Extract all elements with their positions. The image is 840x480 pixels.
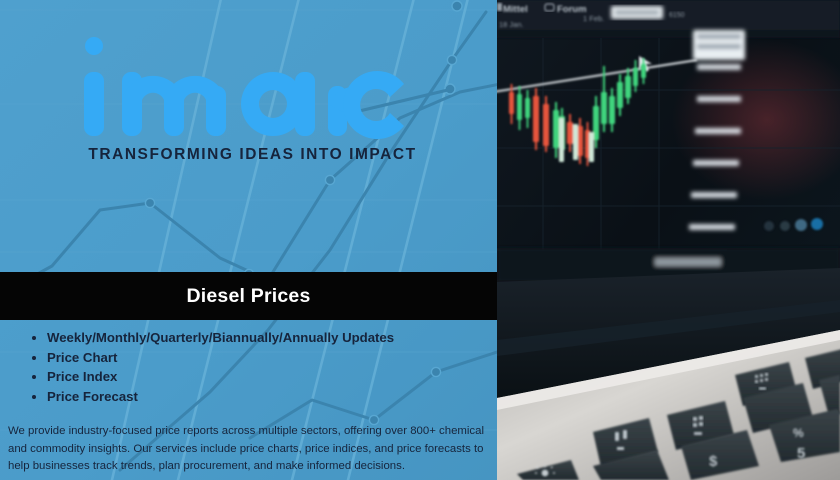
left-info-panel: TRANSFORMING IDEAS INTO IMPACT Diesel Pr… — [0, 0, 497, 480]
key-label-dollar: $ — [709, 453, 718, 470]
page-title: Diesel Prices — [186, 285, 310, 308]
imarc-wordmark-icon — [70, 34, 410, 144]
feature-label: Price Forecast — [47, 389, 138, 404]
feature-list: Weekly/Monthly/Quarterly/Biannually/Annu… — [0, 328, 497, 406]
list-item: Price Forecast — [30, 387, 497, 407]
photo-illustration: Mittel Forum 18 Jan. 1 Feb. 6150 — [497, 0, 840, 480]
feature-label: Price Index — [47, 369, 117, 384]
feature-label: Price Chart — [47, 350, 117, 365]
list-item: Weekly/Monthly/Quarterly/Biannually/Annu… — [30, 328, 497, 348]
brand-tagline: TRANSFORMING IDEAS INTO IMPACT — [0, 146, 497, 164]
key-label-5: 5 — [797, 445, 805, 462]
brand-logo-block: TRANSFORMING IDEAS INTO IMPACT — [0, 0, 497, 272]
screen-bottom-label — [655, 258, 721, 266]
screen-label-date-left: 18 Jan. — [499, 20, 524, 29]
description-paragraph: We provide industry-focused price report… — [8, 423, 490, 476]
screen-label-date-right: 1 Feb. — [583, 14, 604, 23]
laptop-trading-chart-photo: Mittel Forum 18 Jan. 1 Feb. 6150 — [497, 0, 840, 480]
report-title-bar: Diesel Prices — [0, 272, 497, 320]
key-label-percent: % — [793, 426, 804, 440]
list-item: Price Chart — [30, 348, 497, 368]
screen-label-mittel: Mittel — [503, 4, 528, 15]
price-report-banner: TRANSFORMING IDEAS INTO IMPACT Diesel Pr… — [0, 0, 840, 480]
feature-label: Weekly/Monthly/Quarterly/Biannually/Annu… — [47, 330, 394, 345]
list-item: Price Index — [30, 367, 497, 387]
svg-text:6150: 6150 — [669, 12, 685, 19]
